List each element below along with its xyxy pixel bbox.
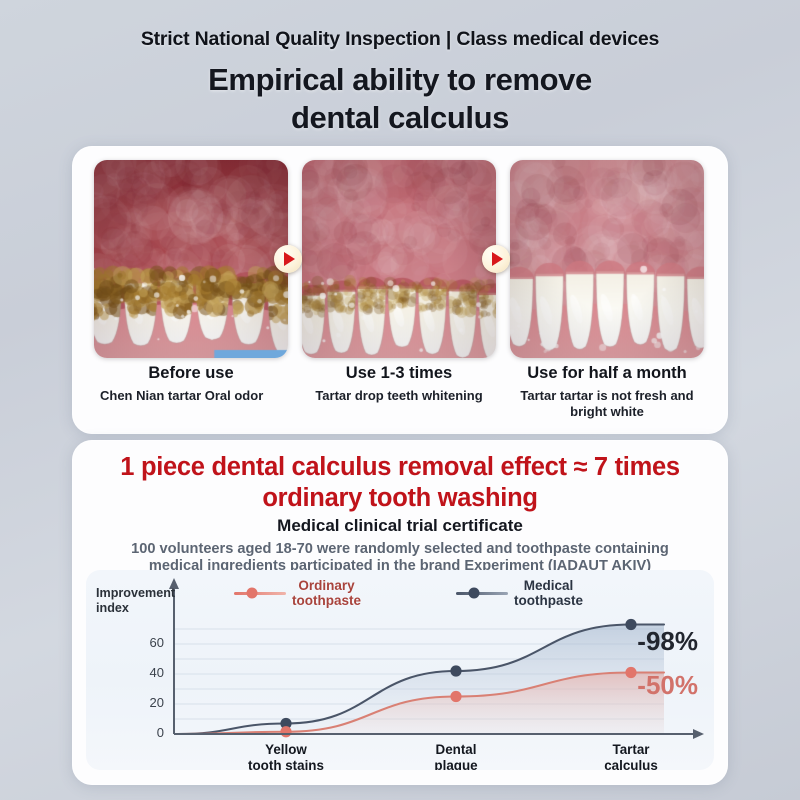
caption-2: Use 1-3 times Tartar drop teeth whitenin… [302,364,496,421]
annotation-ordinary-pct: -50% [637,670,698,701]
photo-cell-1 [94,160,288,358]
claim-headline: 1 piece dental calculus removal effect ≈… [90,452,710,514]
legend-line-ordinary [234,592,286,595]
page-title-line1: Empirical ability to remove [0,61,800,99]
page-header: Strict National Quality Inspection | Cla… [0,28,800,138]
improvement-chart: Improvement index Ordinary toothpaste [86,570,714,770]
clinical-trial-card: 1 piece dental calculus removal effect ≈… [72,440,728,785]
caption-2-subtitle: Tartar drop teeth whitening [302,388,496,405]
caption-3-title: Use for half a month [510,364,704,384]
photo-row [94,160,706,358]
play-arrow-icon-1 [274,245,302,273]
caption-3: Use for half a month Tartar tartar is no… [510,364,704,421]
chart-y-axis-label: Improvement index [96,586,192,616]
legend-dot-ordinary [247,588,258,599]
x-label-0: Yellowtooth stains [226,742,346,770]
play-arrow-icon-2 [482,245,510,273]
claim-headline-line1: 1 piece dental calculus removal effect ≈… [90,452,710,483]
page-title-line2: dental calculus [0,99,800,137]
chart-legend: Ordinary toothpaste Medical toothpaste [206,574,626,610]
legend-item-ordinary: Ordinary toothpaste [234,578,361,608]
photo-before-use [94,160,288,358]
caption-1-subtitle: Chen Nian tartar Oral odor [94,388,288,405]
y-tick-20: 20 [134,695,164,710]
legend-line-medical [456,592,508,595]
x-label-1: Dentalplaque [396,742,516,770]
caption-row: Before use Chen Nian tartar Oral odor Us… [94,364,706,421]
legend-label-medical: Medical toothpaste [514,578,583,608]
caption-1-title: Before use [94,364,288,384]
legend-label-ordinary-line1: Ordinary [292,578,361,593]
legend-label-medical-line1: Medical [514,578,583,593]
caption-1: Before use Chen Nian tartar Oral odor [94,364,288,421]
claim-headline-line2: ordinary tooth washing [90,483,710,514]
header-kicker: Strict National Quality Inspection | Cla… [0,28,800,51]
legend-label-ordinary-line2: toothpaste [292,593,361,608]
legend-dot-medical [469,588,480,599]
caption-3-subtitle: Tartar tartar is not fresh and bright wh… [510,388,704,421]
legend-item-medical: Medical toothpaste [456,578,583,608]
legend-label-ordinary: Ordinary toothpaste [292,578,361,608]
photo-after-1-3-times [302,160,496,358]
trial-blurb-line1: 100 volunteers aged 18-70 were randomly … [80,541,720,558]
comparison-card: Before use Chen Nian tartar Oral odor Us… [72,146,728,434]
certificate-label: Medical clinical trial certificate [72,516,728,536]
legend-label-medical-line2: toothpaste [514,593,583,608]
y-tick-40: 40 [134,665,164,680]
photo-after-half-month [510,160,704,358]
annotation-medical-pct: -98% [637,626,698,657]
photo-cell-2 [302,160,496,358]
promo-page: Strict National Quality Inspection | Cla… [0,0,800,800]
y-tick-0: 0 [134,725,164,740]
photo-cell-3 [510,160,704,358]
caption-2-title: Use 1-3 times [302,364,496,384]
x-label-2: Tartarcalculus [571,742,691,770]
y-tick-60: 60 [134,635,164,650]
page-title: Empirical ability to remove dental calcu… [0,61,800,138]
